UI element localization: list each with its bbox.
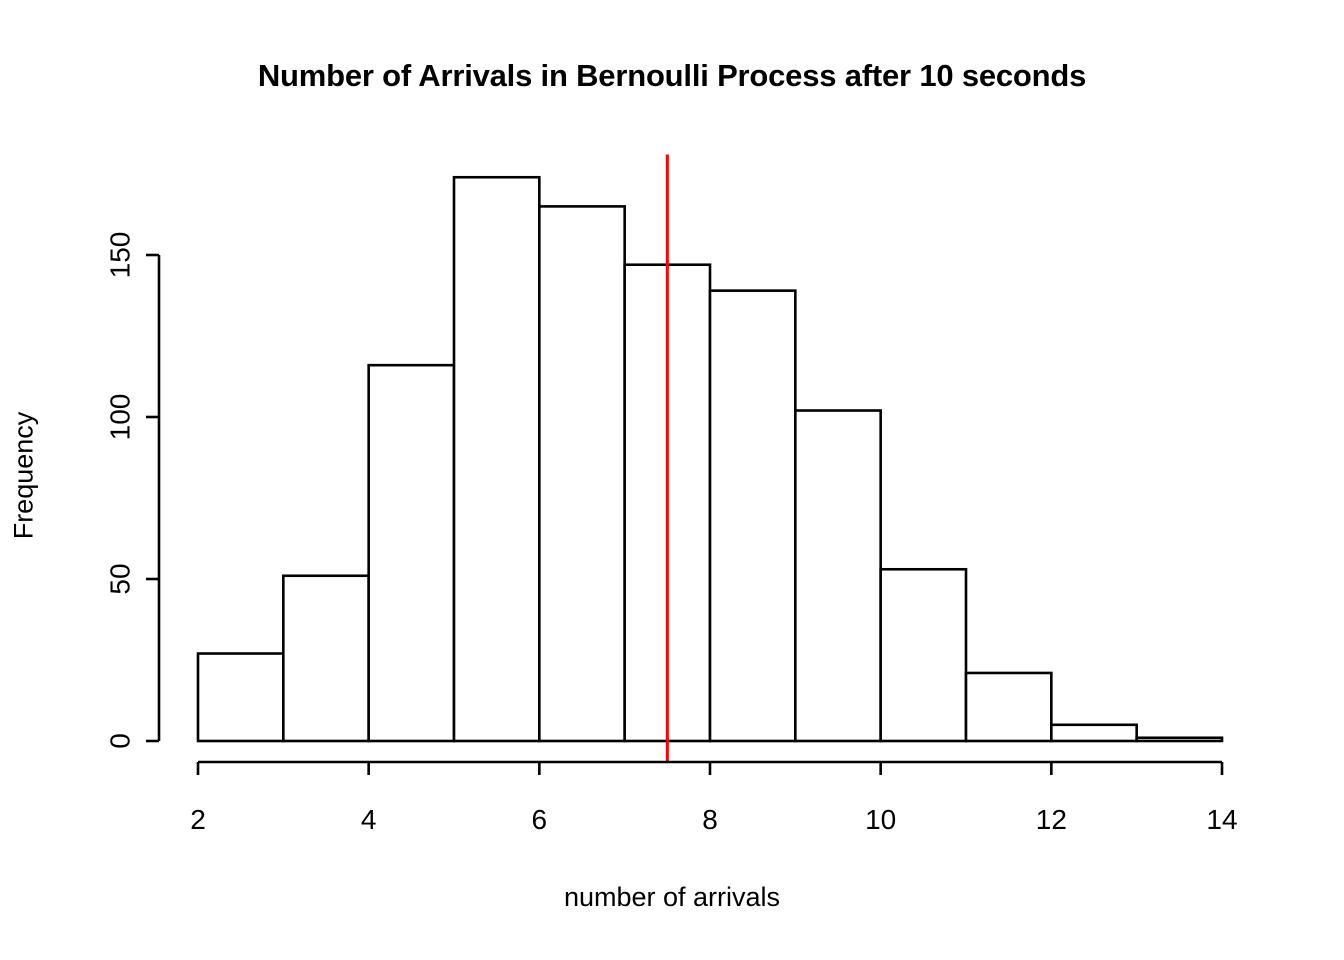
histogram-plot: Number of Arrivals in Bernoulli Process … [0, 0, 1344, 960]
histogram-bar [198, 654, 283, 741]
histogram-bar [710, 291, 795, 741]
histogram-bar [795, 411, 880, 741]
plot-canvas: 050100150 2468101214 [0, 0, 1344, 960]
histogram-bars [198, 177, 1222, 741]
x-tick-label: 12 [1036, 804, 1067, 835]
histogram-bar [283, 576, 368, 741]
histogram-bar [539, 206, 624, 741]
x-tick-label: 10 [865, 804, 896, 835]
histogram-bar [1137, 738, 1222, 741]
y-tick-label: 50 [105, 563, 136, 594]
y-axis [146, 255, 159, 741]
x-tick-label: 14 [1206, 804, 1237, 835]
y-tick-label: 150 [105, 232, 136, 279]
y-tick-label: 0 [105, 733, 136, 749]
histogram-bar [454, 177, 539, 741]
x-axis [198, 762, 1222, 775]
x-tick-label: 4 [361, 804, 377, 835]
x-tick-labels: 2468101214 [190, 804, 1237, 835]
histogram-bar [966, 673, 1051, 741]
y-tick-label: 100 [105, 394, 136, 441]
x-tick-label: 6 [532, 804, 548, 835]
x-tick-label: 8 [702, 804, 718, 835]
histogram-bar [1051, 725, 1136, 741]
histogram-bar [881, 569, 966, 741]
x-tick-label: 2 [190, 804, 206, 835]
histogram-bar [369, 365, 454, 741]
y-tick-labels: 050100150 [105, 232, 136, 749]
